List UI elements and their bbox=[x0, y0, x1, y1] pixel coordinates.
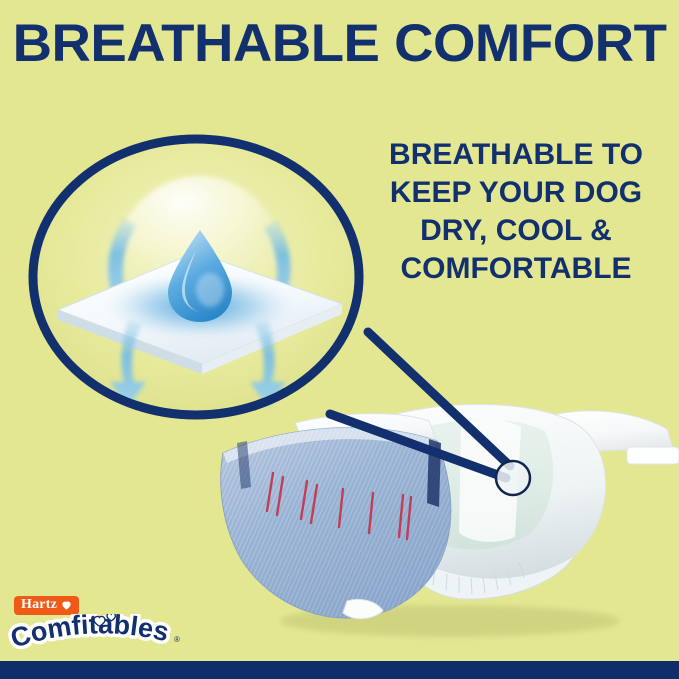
bottom-accent-bar bbox=[0, 661, 679, 679]
feature-description-line: DRY, COOL & bbox=[366, 212, 666, 250]
feature-description-line: BREATHABLE TO bbox=[366, 136, 666, 174]
brand-logo: Hartz Comfitables Comfitables bbox=[8, 596, 186, 654]
page-title: BREATHABLE COMFORT bbox=[0, 14, 679, 74]
feature-description-line: COMFORTABLE bbox=[366, 250, 666, 288]
dog-diaper-product-photo bbox=[215, 395, 679, 645]
product-feature-card: BREATHABLE COMFORT BREATHABLE TO KEEP YO… bbox=[0, 0, 679, 679]
svg-text:Comfitables: Comfitables bbox=[8, 614, 172, 654]
comfitables-wordmark: Comfitables Comfitables ® bbox=[8, 614, 186, 654]
heart-icon bbox=[61, 600, 72, 611]
registered-mark: ® bbox=[174, 635, 180, 644]
feature-description: BREATHABLE TO KEEP YOUR DOG DRY, COOL & … bbox=[366, 136, 666, 288]
breathability-magnifier-illustration bbox=[24, 134, 374, 424]
hartz-wordmark: Hartz bbox=[21, 598, 57, 612]
hartz-brand-badge: Hartz bbox=[14, 596, 79, 615]
feature-description-line: KEEP YOUR DOG bbox=[366, 174, 666, 212]
